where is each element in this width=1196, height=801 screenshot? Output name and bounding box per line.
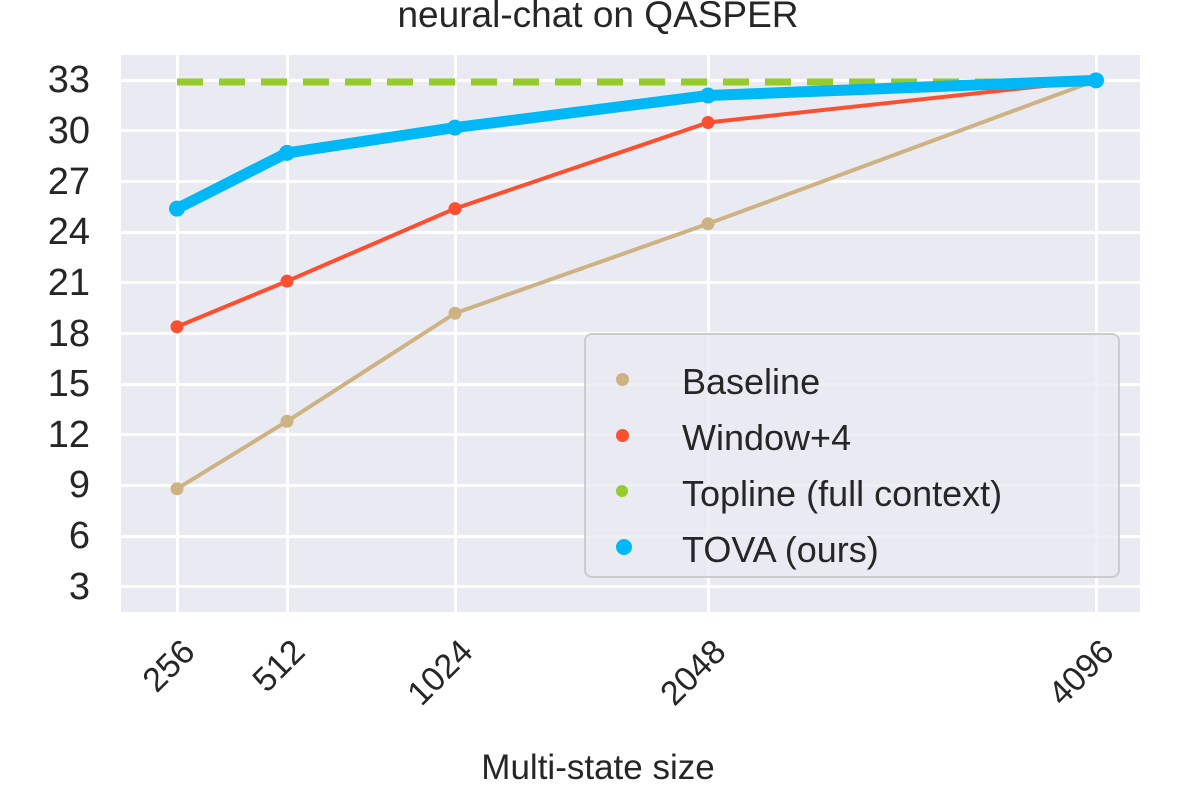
chart-figure: neural-chat on QASPER 333027242118151296… (0, 0, 1196, 795)
gridline-horizontal (121, 180, 1140, 183)
y-axis-tick-label: 18 (48, 315, 90, 353)
gridline-vertical (176, 55, 179, 612)
legend-item-label: Topline (full context) (682, 476, 1002, 512)
y-axis-tick-label: 33 (48, 61, 90, 99)
legend-item[interactable]: TOVA (ours) (586, 519, 1118, 575)
y-axis-tick-label: 9 (69, 466, 90, 504)
y-axis-tick-label: 21 (48, 264, 90, 302)
y-axis-tick-label: 6 (69, 517, 90, 555)
y-axis-tick-label: 27 (48, 163, 90, 201)
legend-color-swatch (616, 539, 632, 555)
legend-color-swatch (616, 429, 629, 442)
y-axis-tick-label: 3 (69, 568, 90, 606)
legend-item[interactable]: Topline (full context) (586, 463, 1118, 519)
y-axis-tick-label: 15 (48, 365, 90, 403)
gridline-vertical (454, 55, 457, 612)
gridline-vertical (286, 55, 289, 612)
gridline-horizontal (121, 231, 1140, 234)
gridline-horizontal (121, 129, 1140, 132)
chart-title: neural-chat on QASPER (0, 0, 1196, 36)
legend-item[interactable]: Baseline (586, 351, 1118, 407)
legend-item-label: Baseline (682, 364, 820, 400)
legend-color-swatch (616, 485, 628, 497)
legend-item[interactable]: Window+4 (586, 407, 1118, 463)
gridline-horizontal (121, 79, 1140, 82)
legend-item-label: TOVA (ours) (682, 532, 879, 568)
gridline-horizontal (121, 281, 1140, 284)
legend-item-label: Window+4 (682, 420, 851, 456)
chart-legend: BaselineWindow+4Topline (full context)TO… (584, 333, 1120, 578)
x-axis-label: Multi-state size (0, 748, 1196, 788)
y-axis-tick-label: 24 (48, 213, 90, 251)
y-axis-tick-label: 30 (48, 112, 90, 150)
gridline-horizontal (121, 585, 1140, 588)
legend-color-swatch (616, 373, 629, 386)
y-axis-tick-label: 12 (48, 416, 90, 454)
